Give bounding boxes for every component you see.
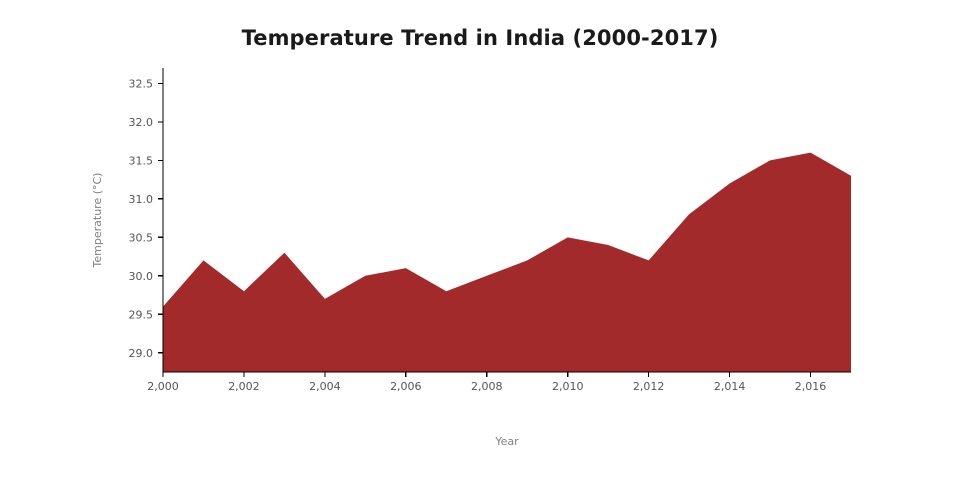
x-tick-label: 2,012 — [633, 380, 665, 393]
y-tick-label: 31.5 — [129, 154, 154, 167]
x-axis-ticks: 2,0002,0022,0042,0062,0082,0102,0122,014… — [147, 372, 826, 393]
x-tick-label: 2,010 — [552, 380, 584, 393]
area-chart-plot: 29.029.530.030.531.031.532.032.5 2,0002,… — [0, 0, 960, 500]
x-tick-label: 2,002 — [228, 380, 260, 393]
y-tick-label: 32.0 — [129, 116, 154, 129]
y-tick-label: 30.5 — [129, 231, 154, 244]
y-tick-label: 31.0 — [129, 193, 154, 206]
chart-container: Temperature Trend in India (2000-2017) 2… — [0, 0, 960, 500]
y-axis-title: Temperature (°C) — [91, 173, 104, 269]
x-tick-label: 2,006 — [390, 380, 422, 393]
temperature-area-series — [163, 153, 851, 372]
x-tick-label: 2,014 — [714, 380, 746, 393]
x-tick-label: 2,000 — [147, 380, 179, 393]
y-tick-label: 29.0 — [129, 347, 154, 360]
y-tick-label: 30.0 — [129, 270, 154, 283]
x-axis-title: Year — [494, 435, 519, 448]
x-tick-label: 2,016 — [795, 380, 827, 393]
y-tick-label: 32.5 — [129, 77, 154, 90]
x-tick-label: 2,004 — [309, 380, 341, 393]
y-axis-ticks: 29.029.530.030.531.031.532.032.5 — [129, 77, 164, 359]
x-tick-label: 2,008 — [471, 380, 503, 393]
y-tick-label: 29.5 — [129, 308, 154, 321]
